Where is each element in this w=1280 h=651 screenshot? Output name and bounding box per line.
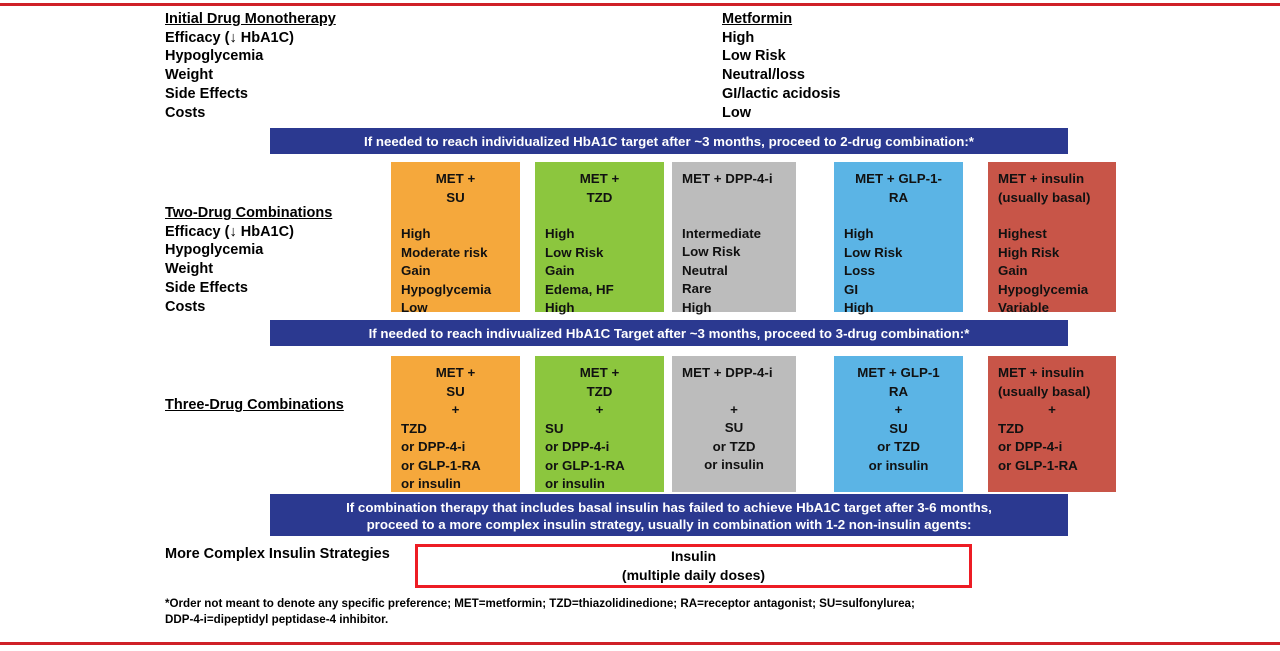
card-option: TZD xyxy=(988,420,1116,439)
section-label-two-drug: Two-Drug Combinations xyxy=(165,204,332,223)
attribute-side-effects: Side Effects xyxy=(165,85,585,104)
monotherapy-value-costs: Low xyxy=(722,104,1052,123)
three-drug-card-dpp4i[interactable]: MET + DPP-4-i + SU or TZD or insulin xyxy=(672,356,796,492)
three-drug-card-tzd[interactable]: MET + TZD + SU or DPP-4-i or GLP-1-RA or… xyxy=(535,356,664,492)
three-drug-label-block: Three-Drug Combinations xyxy=(165,396,344,415)
two-drug-card-su[interactable]: MET + SU High Moderate risk Gain Hypogly… xyxy=(391,162,520,312)
card-option: or TZD xyxy=(672,438,796,457)
three-drug-card-glp1ra[interactable]: MET + GLP-1 RA + SU or TZD or insulin xyxy=(834,356,963,492)
card-spacer xyxy=(391,207,520,225)
attribute-hypoglycemia: Hypoglycemia xyxy=(165,241,332,260)
card-spacer xyxy=(672,383,796,401)
card-value-costs: Low xyxy=(391,299,520,318)
card-header-line: TZD xyxy=(535,383,664,402)
card-header-line: MET + GLP-1 xyxy=(834,364,963,383)
card-header-line: MET + xyxy=(391,364,520,383)
card-value-weight: Gain xyxy=(988,262,1116,281)
card-value-side-effects: Hypoglycemia xyxy=(988,281,1116,300)
banner-two-drug-step: If needed to reach individualized HbA1C … xyxy=(270,128,1068,154)
card-value-hypoglycemia: Moderate risk xyxy=(391,244,520,263)
card-value-side-effects: Rare xyxy=(672,280,796,299)
section-label-complex-insulin: More Complex Insulin Strategies xyxy=(165,546,390,562)
card-option: or GLP-1-RA xyxy=(535,457,664,476)
card-option: SU xyxy=(834,420,963,439)
card-option: TZD xyxy=(391,420,520,439)
card-value-efficacy: Highest xyxy=(988,225,1116,244)
card-plus-sign: + xyxy=(672,401,796,420)
banner-complex-insulin-step: If combination therapy that includes bas… xyxy=(270,494,1068,536)
card-header-line: RA xyxy=(834,383,963,402)
card-option: or insulin xyxy=(535,475,664,494)
card-value-efficacy: High xyxy=(535,225,664,244)
top-rule xyxy=(0,3,1280,6)
footnote-line-1: *Order not meant to denote any specific … xyxy=(165,596,1065,612)
card-header-line: MET + insulin xyxy=(988,364,1116,383)
card-value-hypoglycemia: Low Risk xyxy=(834,244,963,263)
card-plus-sign: + xyxy=(391,401,520,420)
two-drug-card-tzd[interactable]: MET + TZD High Low Risk Gain Edema, HF H… xyxy=(535,162,664,312)
attribute-efficacy: Efficacy (↓ HbA1C) xyxy=(165,223,332,242)
card-header-line: RA xyxy=(834,189,963,208)
card-spacer xyxy=(988,207,1116,225)
two-drug-card-insulin[interactable]: MET + insulin (usually basal) Highest Hi… xyxy=(988,162,1116,312)
complex-insulin-title: Insulin xyxy=(671,547,716,566)
card-value-hypoglycemia: Low Risk xyxy=(672,243,796,262)
card-header-line: TZD xyxy=(535,189,664,208)
card-value-weight: Neutral xyxy=(672,262,796,281)
attribute-costs: Costs xyxy=(165,298,332,317)
bottom-rule xyxy=(0,642,1280,645)
card-option: or DPP-4-i xyxy=(988,438,1116,457)
card-value-efficacy: High xyxy=(391,225,520,244)
card-value-side-effects: Edema, HF xyxy=(535,281,664,300)
card-option: or DPP-4-i xyxy=(391,438,520,457)
attribute-hypoglycemia: Hypoglycemia xyxy=(165,47,585,66)
two-drug-card-glp1ra[interactable]: MET + GLP-1- RA High Low Risk Loss GI Hi… xyxy=(834,162,963,312)
banner-complex-insulin-line1: If combination therapy that includes bas… xyxy=(346,499,992,516)
card-header-line: MET + xyxy=(391,170,520,189)
card-value-side-effects: Hypoglycemia xyxy=(391,281,520,300)
card-header-line: MET + insulin xyxy=(988,170,1116,189)
monotherapy-value-block: Metformin High Low Risk Neutral/loss GI/… xyxy=(722,10,1052,122)
card-spacer xyxy=(672,189,796,207)
card-value-side-effects: GI xyxy=(834,281,963,300)
figure-canvas: Initial Drug Monotherapy Efficacy (↓ HbA… xyxy=(0,0,1280,651)
monotherapy-value-weight: Neutral/loss xyxy=(722,66,1052,85)
card-option: or insulin xyxy=(391,475,520,494)
monotherapy-drug-header: Metformin xyxy=(722,10,1052,29)
card-plus-sign: + xyxy=(834,401,963,420)
monotherapy-value-side-effects: GI/lactic acidosis xyxy=(722,85,1052,104)
attribute-efficacy: Efficacy (↓ HbA1C) xyxy=(165,29,585,48)
card-option: or DPP-4-i xyxy=(535,438,664,457)
card-value-costs: High xyxy=(535,299,664,318)
card-plus-sign: + xyxy=(988,401,1116,420)
monotherapy-value-efficacy: High xyxy=(722,29,1052,48)
banner-two-drug-text: If needed to reach individualized HbA1C … xyxy=(364,133,974,150)
complex-insulin-box[interactable]: Insulin (multiple daily doses) xyxy=(415,544,972,588)
card-value-costs: High xyxy=(672,299,796,318)
card-header-line: MET + DPP-4-i xyxy=(672,364,796,383)
card-value-weight: Gain xyxy=(535,262,664,281)
three-drug-card-insulin[interactable]: MET + insulin (usually basal) + TZD or D… xyxy=(988,356,1116,492)
card-header-line: MET + xyxy=(535,364,664,383)
two-drug-card-dpp4i[interactable]: MET + DPP-4-i Intermediate Low Risk Neut… xyxy=(672,162,796,312)
card-spacer xyxy=(672,207,796,225)
card-header-line: SU xyxy=(391,189,520,208)
card-header-line: MET + xyxy=(535,170,664,189)
card-header-line: SU xyxy=(391,383,520,402)
card-option: SU xyxy=(535,420,664,439)
card-option: SU xyxy=(672,419,796,438)
card-option: or GLP-1-RA xyxy=(988,457,1116,476)
card-value-costs: Variable xyxy=(988,299,1116,318)
monotherapy-value-hypoglycemia: Low Risk xyxy=(722,47,1052,66)
banner-complex-insulin-line2: proceed to a more complex insulin strate… xyxy=(367,516,972,533)
attribute-costs: Costs xyxy=(165,104,585,123)
card-header-line: (usually basal) xyxy=(988,383,1116,402)
banner-three-drug-step: If needed to reach indivualized HbA1C Ta… xyxy=(270,320,1068,346)
card-header-line: MET + GLP-1- xyxy=(834,170,963,189)
card-header-line: (usually basal) xyxy=(988,189,1116,208)
card-option: or TZD xyxy=(834,438,963,457)
card-value-hypoglycemia: High Risk xyxy=(988,244,1116,263)
card-value-weight: Gain xyxy=(391,262,520,281)
card-value-costs: High xyxy=(834,299,963,318)
three-drug-card-su[interactable]: MET + SU + TZD or DPP-4-i or GLP-1-RA or… xyxy=(391,356,520,492)
card-value-efficacy: Intermediate xyxy=(672,225,796,244)
card-header-line: MET + DPP-4-i xyxy=(672,170,796,189)
card-option: or insulin xyxy=(834,457,963,476)
two-drug-label-block: Two-Drug Combinations Efficacy (↓ HbA1C)… xyxy=(165,204,332,316)
attribute-weight: Weight xyxy=(165,260,332,279)
card-spacer xyxy=(834,207,963,225)
footnote: *Order not meant to denote any specific … xyxy=(165,596,1065,627)
card-option: or insulin xyxy=(672,456,796,475)
card-value-hypoglycemia: Low Risk xyxy=(535,244,664,263)
card-plus-sign: + xyxy=(535,401,664,420)
section-label-three-drug: Three-Drug Combinations xyxy=(165,396,344,415)
banner-three-drug-text: If needed to reach indivualized HbA1C Ta… xyxy=(369,325,970,342)
card-value-weight: Loss xyxy=(834,262,963,281)
monotherapy-label-block: Initial Drug Monotherapy Efficacy (↓ HbA… xyxy=(165,10,585,122)
footnote-line-2: DDP-4-i=dipeptidyl peptidase-4 inhibitor… xyxy=(165,612,1065,628)
card-value-efficacy: High xyxy=(834,225,963,244)
card-spacer xyxy=(535,207,664,225)
attribute-side-effects: Side Effects xyxy=(165,279,332,298)
card-option: or GLP-1-RA xyxy=(391,457,520,476)
section-label-monotherapy: Initial Drug Monotherapy xyxy=(165,10,585,29)
attribute-weight: Weight xyxy=(165,66,585,85)
complex-insulin-subtitle: (multiple daily doses) xyxy=(622,566,765,585)
